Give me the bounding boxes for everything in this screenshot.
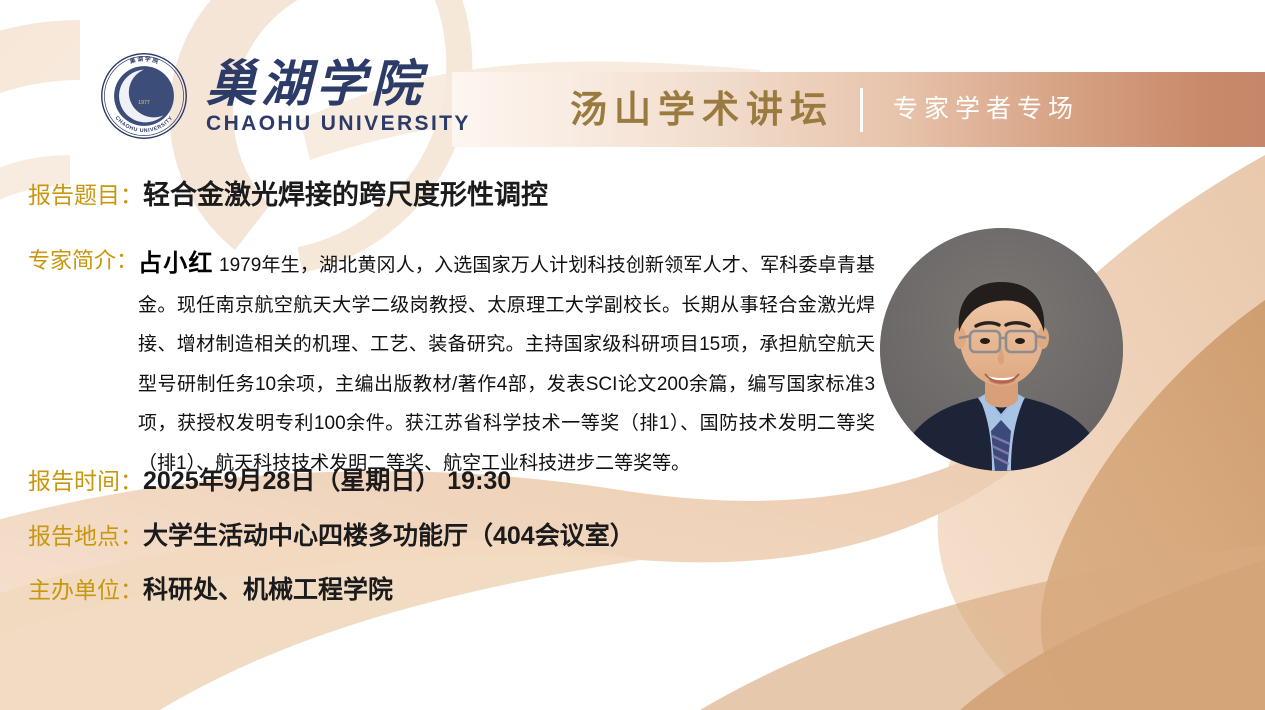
wave-bottom-dark (960, 560, 1265, 710)
report-title-row: 报告题目： 轻合金激光焊接的跨尺度形性调控 (28, 178, 548, 212)
banner-subtitle: 专家学者专场 (893, 97, 1079, 122)
university-seal-icon: 1977 巢 湖 学 院 CHAOHU UNIVERSITY (100, 52, 188, 140)
report-title-label: 报告题目： (28, 178, 143, 212)
svg-text:1977: 1977 (138, 100, 150, 106)
poster-header: 汤山学术讲坛 专家学者专场 1977 巢 湖 学 院 CHAOHU UN (0, 0, 1265, 160)
report-time-row: 报告时间： 2025年9月28日（星期日） 19:30 (28, 465, 511, 497)
organizer-label: 主办单位： (28, 574, 143, 606)
speaker-portrait (880, 228, 1123, 471)
university-name-cn: 巢湖学院 (206, 58, 471, 111)
banner-divider (860, 88, 863, 132)
report-location-row: 报告地点： 大学生活动中心四楼多功能厅（404会议室） (28, 520, 635, 552)
university-name-block: 巢湖学院 CHAOHU UNIVERSITY (206, 58, 471, 134)
organizer-value: 科研处、机械工程学院 (143, 574, 393, 606)
report-location-value: 大学生活动中心四楼多功能厅（404会议室） (143, 520, 635, 552)
organizer-row: 主办单位： 科研处、机械工程学院 (28, 574, 393, 606)
university-name-en: CHAOHU UNIVERSITY (206, 113, 471, 134)
speaker-bio-body: 占小红 1979年生，湖北黄冈人，入选国家万人计划科技创新领军人才、军科委卓青基… (138, 244, 875, 483)
speaker-bio-label: 专家简介： (28, 244, 138, 276)
poster-root: 汤山学术讲坛 专家学者专场 1977 巢 湖 学 院 CHAOHU UN (0, 0, 1265, 710)
university-logo: 1977 巢 湖 学 院 CHAOHU UNIVERSITY 巢湖学院 CHAO… (100, 52, 471, 140)
speaker-bio-row: 专家简介： 占小红 1979年生，湖北黄冈人，入选国家万人计划科技创新领军人才、… (28, 244, 888, 483)
speaker-bio-text: 1979年生，湖北黄冈人，入选国家万人计划科技创新领军人才、军科委卓青基金。现任… (138, 255, 875, 474)
report-title-value: 轻合金激光焊接的跨尺度形性调控 (143, 178, 548, 212)
wave-bottom-mid (700, 545, 1265, 710)
report-location-label: 报告地点： (28, 520, 143, 552)
report-time-value: 2025年9月28日（星期日） 19:30 (143, 465, 511, 497)
report-time-label: 报告时间： (28, 465, 143, 497)
speaker-name: 占小红 (138, 250, 214, 277)
banner-title: 汤山学术讲坛 (570, 91, 834, 128)
wave-lower-left (0, 537, 640, 710)
banner-content: 汤山学术讲坛 专家学者专场 (452, 72, 1265, 147)
speaker-portrait-image (880, 228, 1123, 471)
